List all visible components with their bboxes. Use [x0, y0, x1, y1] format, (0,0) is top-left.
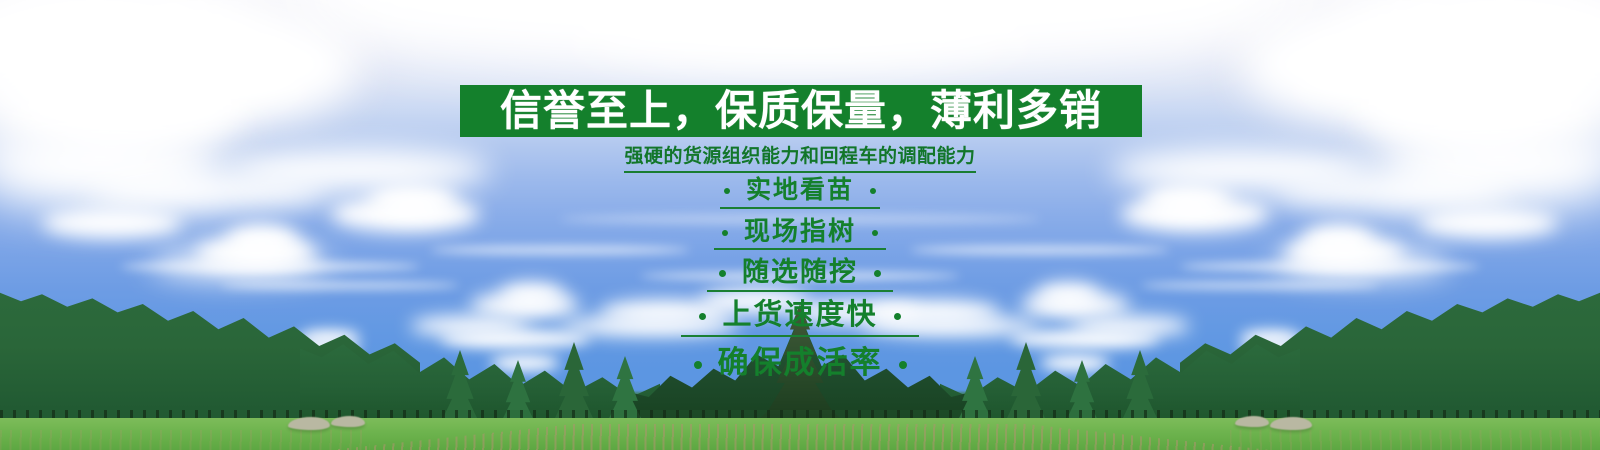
- banner-content: 信誉至上，保质保量，薄利多销 强硬的货源组织能力和回程车的调配能力 实地看苗 现…: [0, 0, 1600, 450]
- feature-label: 实地看苗: [746, 176, 854, 204]
- feature-item-inner: 实地看苗: [720, 178, 880, 209]
- feature-item-inner: 现场指树: [714, 218, 886, 250]
- feature-list: 实地看苗 现场指树 随选随挖 上货速度快 确保成活率: [0, 178, 1600, 383]
- dot-bullet-icon: [699, 313, 706, 320]
- dot-bullet-icon: [719, 270, 726, 277]
- feature-item: 随选随挖: [0, 259, 1600, 292]
- headline-banner: 信誉至上，保质保量，薄利多销: [460, 85, 1142, 137]
- dot-bullet-icon: [894, 313, 901, 320]
- feature-item: 确保成活率: [0, 347, 1600, 383]
- headline-text: 信誉至上，保质保量，薄利多销: [500, 90, 1102, 132]
- feature-label: 上货速度快: [722, 299, 877, 331]
- subheadline-wrapper: 强硬的货源组织能力和回程车的调配能力: [0, 146, 1600, 173]
- feature-label: 随选随挖: [742, 257, 858, 287]
- promo-banner: 信誉至上，保质保量，薄利多销 强硬的货源组织能力和回程车的调配能力 实地看苗 现…: [0, 0, 1600, 450]
- dot-bullet-icon: [694, 361, 702, 369]
- dot-bullet-icon: [899, 361, 907, 369]
- feature-item: 上货速度快: [0, 301, 1600, 337]
- dot-bullet-icon: [872, 230, 878, 236]
- dot-bullet-icon: [870, 188, 876, 194]
- feature-item-inner: 上货速度快: [681, 301, 918, 337]
- subheadline-text: 强硬的货源组织能力和回程车的调配能力: [624, 146, 975, 173]
- feature-label: 现场指树: [744, 216, 856, 246]
- feature-label: 确保成活率: [718, 345, 883, 380]
- dot-bullet-icon: [722, 230, 728, 236]
- feature-item: 实地看苗: [0, 178, 1600, 209]
- feature-item: 现场指树: [0, 218, 1600, 250]
- feature-item-inner: 随选随挖: [707, 259, 893, 292]
- dot-bullet-icon: [724, 188, 730, 194]
- feature-item-inner: 确保成活率: [670, 347, 931, 383]
- dot-bullet-icon: [874, 270, 881, 277]
